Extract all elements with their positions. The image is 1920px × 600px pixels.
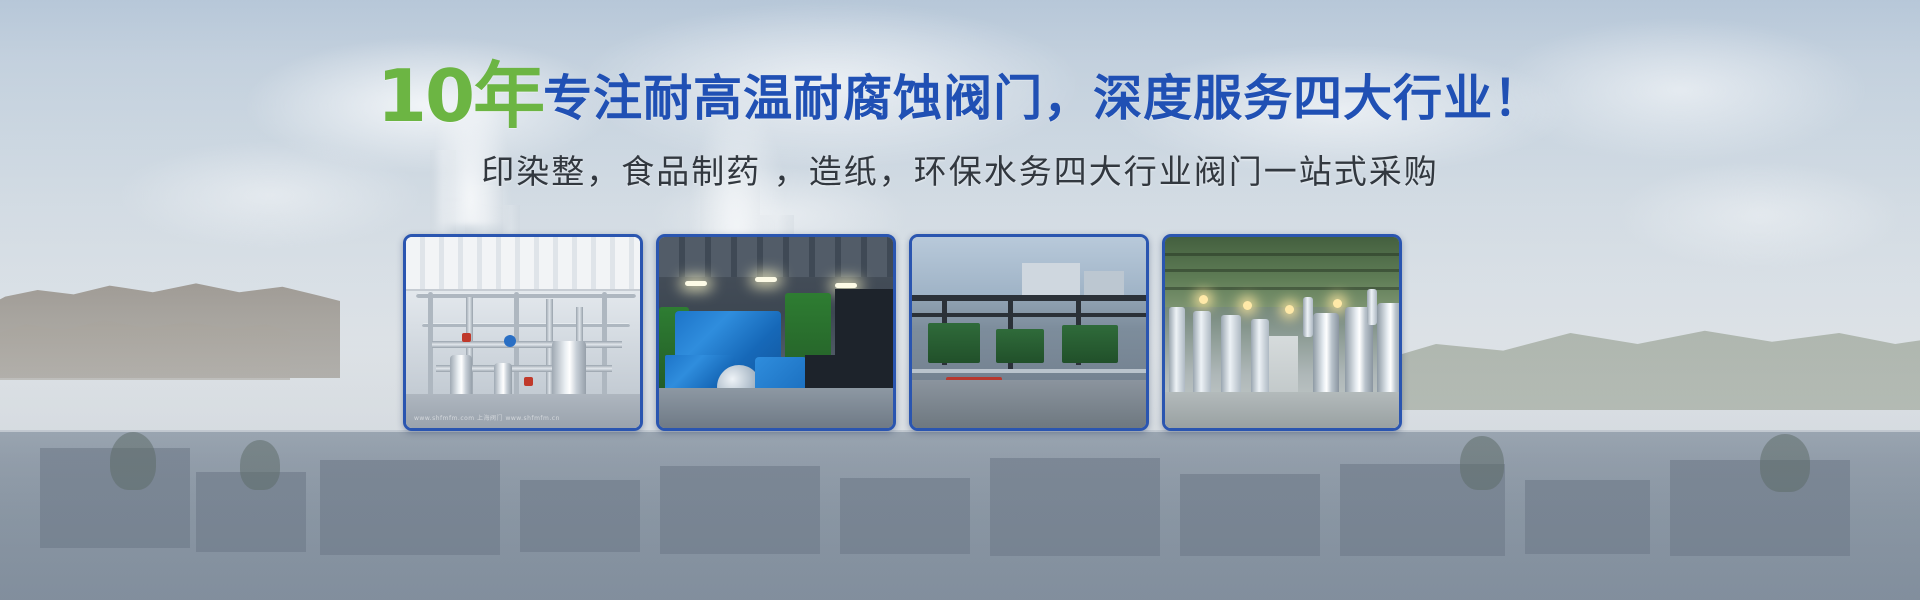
industry-photo-1[interactable]: www.shfmfm.com 上海阀门 www.shfmfm.cn — [403, 234, 643, 431]
photo-watermark: www.shfmfm.com 上海阀门 www.shfmfm.cn — [414, 413, 560, 422]
industry-photo-3[interactable] — [909, 234, 1149, 431]
industry-photo-2[interactable] — [656, 234, 896, 431]
headline-years-unit: 年 — [473, 54, 543, 138]
industry-photo-4[interactable] — [1162, 234, 1402, 431]
headline-main-text: 专注耐高温耐腐蚀阀门，深度服务四大行业！ — [543, 70, 1543, 127]
banner-headline: 10年专注耐高温耐腐蚀阀门，深度服务四大行业！ — [0, 60, 1920, 132]
promo-banner: 10年专注耐高温耐腐蚀阀门，深度服务四大行业！ 印染整，食品制药 ，造纸，环保水… — [0, 0, 1920, 600]
headline-years-number: 10 — [377, 54, 473, 138]
industry-photo-strip: www.shfmfm.com 上海阀门 www.shfmfm.cn — [403, 234, 1443, 431]
ground-band — [0, 430, 1920, 600]
banner-subheadline: 印染整，食品制药 ，造纸，环保水务四大行业阀门一站式采购 — [0, 145, 1920, 193]
